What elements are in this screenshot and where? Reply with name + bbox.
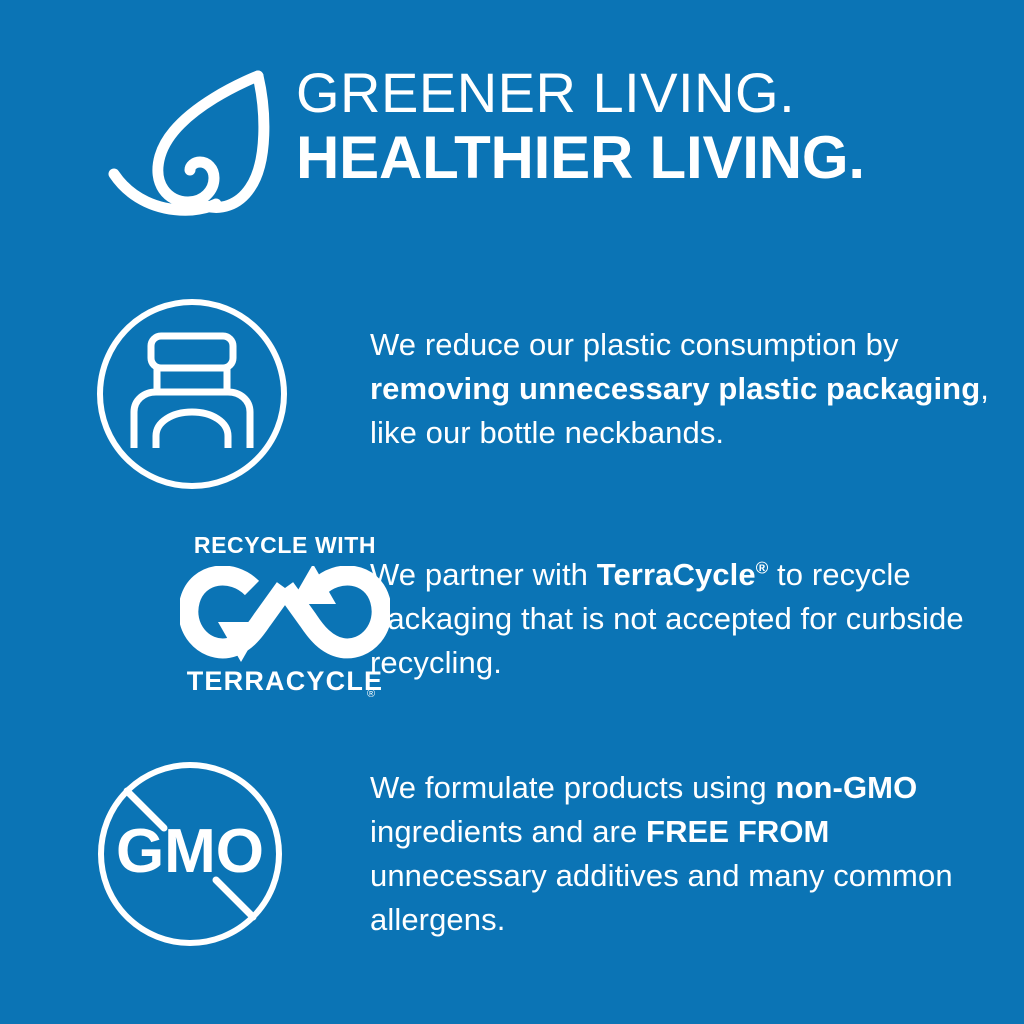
headline-block: GREENER LIVING. HEALTHIER LIVING. bbox=[296, 62, 996, 191]
feature-row-terracycle: RECYCLE WITH ® TERRACYCLE bbox=[0, 528, 1024, 718]
text-segment-bold: FREE FROM bbox=[646, 814, 829, 849]
no-gmo-icon: GMO bbox=[94, 760, 290, 957]
text-segment-bold: TerraCycle bbox=[597, 557, 756, 592]
terracycle-top-label: RECYCLE WITH bbox=[180, 532, 390, 559]
recycle-infinity-icon: ® bbox=[180, 566, 390, 666]
feature-text-non-gmo: We formulate products using non-GMO ingr… bbox=[370, 766, 1010, 942]
registered-mark: ® bbox=[756, 559, 769, 578]
leaf-icon bbox=[108, 70, 280, 222]
text-segment: unnecessary additives and many common al… bbox=[370, 858, 953, 937]
text-segment-bold: removing unnecessary plastic packaging bbox=[370, 371, 980, 406]
bottle-neckband-icon bbox=[94, 296, 290, 497]
infographic-canvas: GREENER LIVING. HEALTHIER LIVING. We red… bbox=[0, 0, 1024, 1024]
text-segment: ingredients and are bbox=[370, 814, 646, 849]
feature-text-plastic-reduction: We reduce our plastic consumption by rem… bbox=[370, 323, 1010, 455]
page-title-line1: GREENER LIVING. bbox=[296, 62, 996, 124]
terracycle-bottom-label: TERRACYCLE bbox=[180, 666, 390, 697]
text-segment: We partner with bbox=[370, 557, 597, 592]
text-segment-bold: non-GMO bbox=[775, 770, 917, 805]
feature-row-non-gmo: GMO We formulate products using non-GMO … bbox=[0, 760, 1024, 955]
feature-text-terracycle: We partner with TerraCycle® to recycle p… bbox=[370, 553, 1010, 685]
feature-row-plastic-reduction: We reduce our plastic consumption by rem… bbox=[0, 296, 1024, 496]
header-banner: GREENER LIVING. HEALTHIER LIVING. bbox=[0, 62, 1024, 232]
text-segment: We formulate products using bbox=[370, 770, 775, 805]
text-segment: We reduce our plastic consumption by bbox=[370, 327, 899, 362]
gmo-label: GMO bbox=[116, 817, 264, 886]
page-title-line2: HEALTHIER LIVING. bbox=[296, 125, 996, 191]
